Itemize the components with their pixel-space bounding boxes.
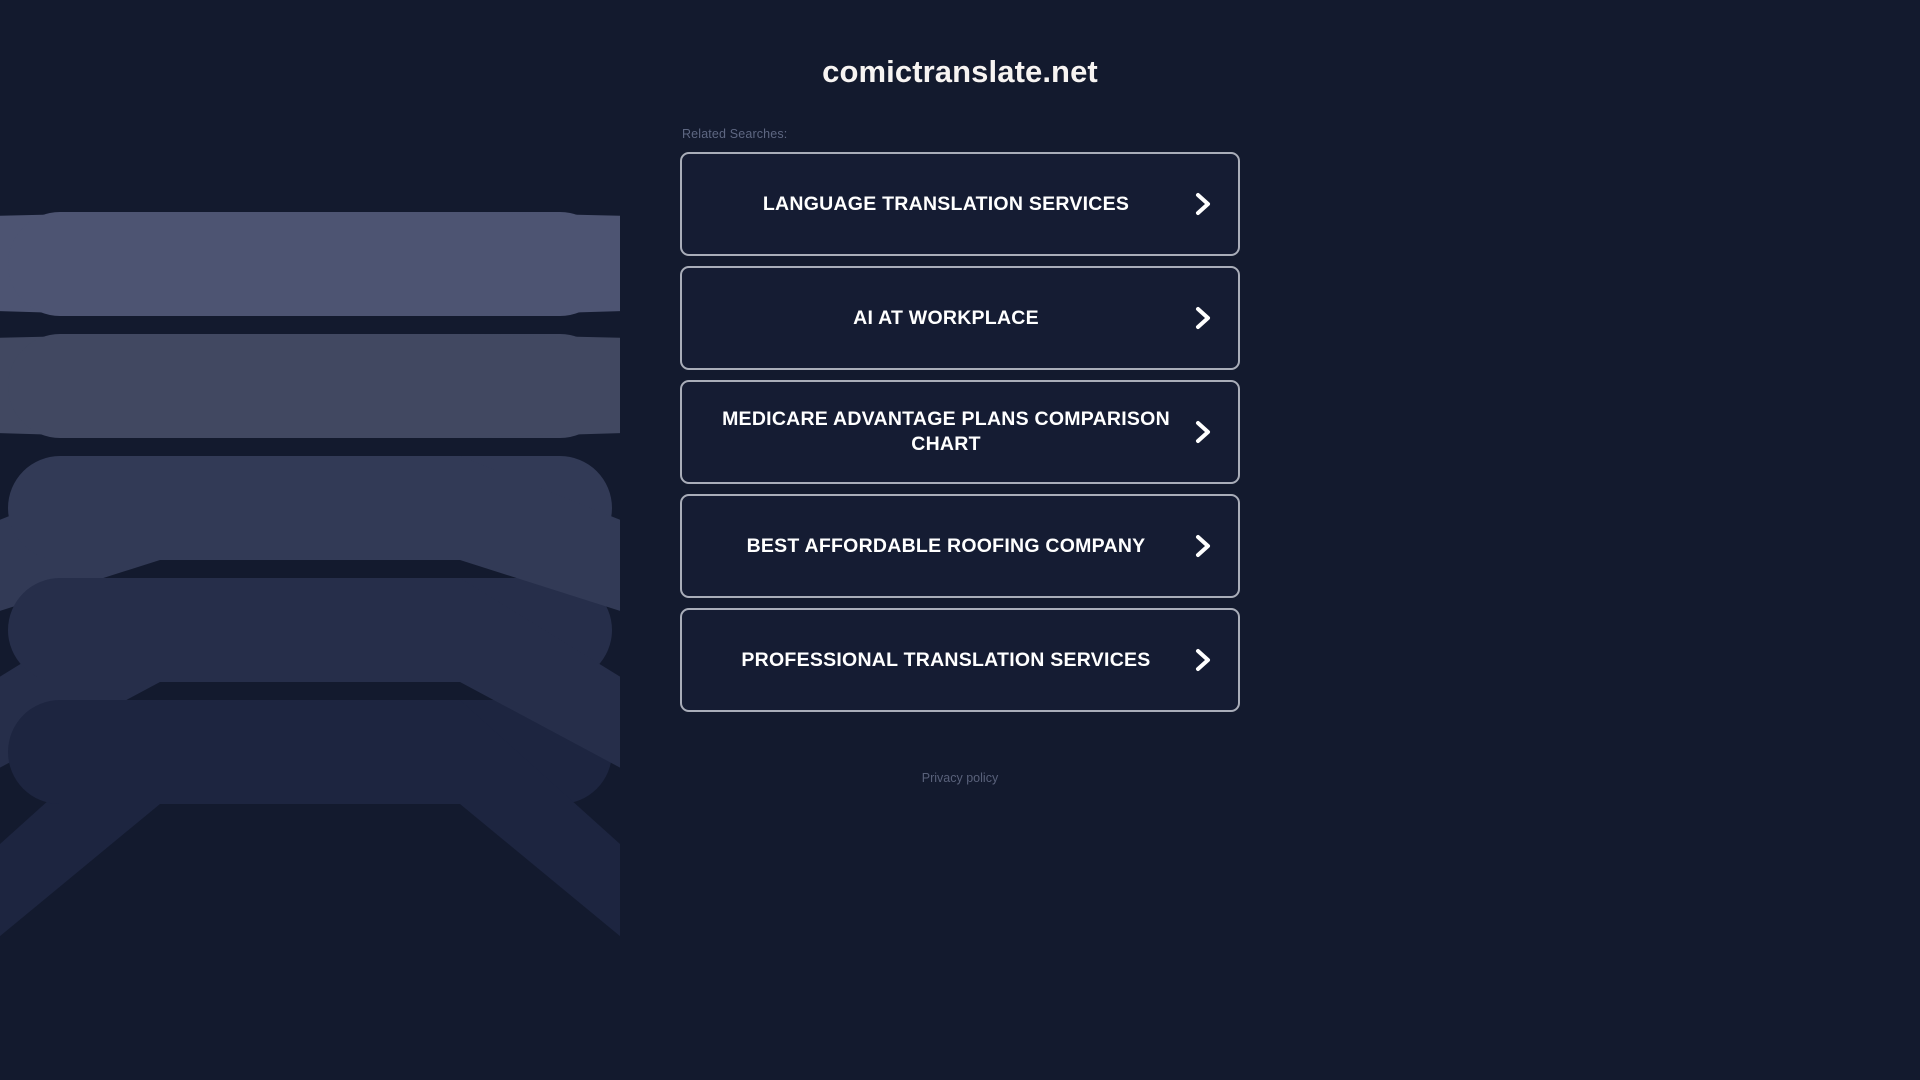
list-item: PROFESSIONAL TRANSLATION SERVICES (680, 608, 1240, 712)
related-search-label: PROFESSIONAL TRANSLATION SERVICES (741, 648, 1150, 673)
chevron-right-icon (1192, 190, 1214, 218)
privacy-policy-link[interactable]: Privacy policy (922, 771, 998, 785)
related-search-button[interactable]: LANGUAGE TRANSLATION SERVICES (680, 152, 1240, 256)
related-search-label: BEST AFFORDABLE ROOFING COMPANY (747, 534, 1146, 559)
related-search-button[interactable]: MEDICARE ADVANTAGE PLANS COMPARISON CHAR… (680, 380, 1240, 484)
page-title: comictranslate.net (822, 55, 1098, 89)
list-item: LANGUAGE TRANSLATION SERVICES (680, 152, 1240, 256)
list-item: BEST AFFORDABLE ROOFING COMPANY (680, 494, 1240, 598)
related-search-label: MEDICARE ADVANTAGE PLANS COMPARISON CHAR… (716, 407, 1176, 457)
related-search-label: LANGUAGE TRANSLATION SERVICES (763, 192, 1129, 217)
list-item: MEDICARE ADVANTAGE PLANS COMPARISON CHAR… (680, 380, 1240, 484)
chevron-right-icon (1192, 532, 1214, 560)
chevron-right-icon (1192, 646, 1214, 674)
related-searches-label: Related Searches: (682, 127, 1240, 141)
related-search-button[interactable]: AI AT WORKPLACE (680, 266, 1240, 370)
related-search-button[interactable]: BEST AFFORDABLE ROOFING COMPANY (680, 494, 1240, 598)
chevron-right-icon (1192, 304, 1214, 332)
related-searches-block: Related Searches: LANGUAGE TRANSLATION S… (680, 127, 1240, 712)
related-searches-list: LANGUAGE TRANSLATION SERVICESAI AT WORKP… (680, 152, 1240, 712)
page-root: comictranslate.net Related Searches: LAN… (0, 0, 1920, 1080)
footer: Privacy policy (922, 769, 998, 787)
main-content: comictranslate.net Related Searches: LAN… (0, 0, 1920, 1080)
chevron-right-icon (1192, 418, 1214, 446)
related-search-label: AI AT WORKPLACE (853, 306, 1039, 331)
related-search-button[interactable]: PROFESSIONAL TRANSLATION SERVICES (680, 608, 1240, 712)
list-item: AI AT WORKPLACE (680, 266, 1240, 370)
